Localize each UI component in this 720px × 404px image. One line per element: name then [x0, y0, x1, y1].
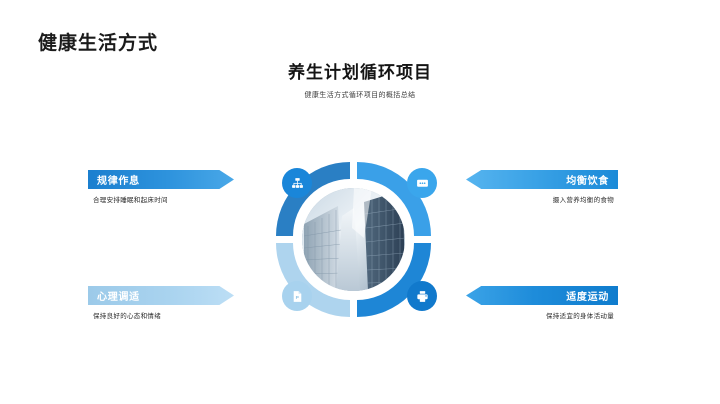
main-heading: 养生计划循环项目 [0, 62, 720, 84]
callout-banner[interactable]: 均衡饮食 [466, 170, 618, 189]
callout-label: 适度运动 [566, 288, 609, 303]
callout-label: 心理调适 [97, 288, 140, 303]
badge-bottom-right[interactable] [407, 281, 437, 311]
sub-heading: 健康生活方式循环项目的概括总结 [0, 90, 720, 100]
callout-mental-adjustment[interactable]: 心理调适 保持良好的心态和情绪 [88, 286, 248, 320]
slide-canvas: 健康生活方式 养生计划循环项目 健康生活方式循环项目的概括总结 [0, 0, 720, 404]
callout-description: 保持适宜的身体活动量 [466, 310, 626, 320]
badge-top-right[interactable] [407, 168, 437, 198]
callout-banner[interactable]: 规律作息 [88, 170, 234, 189]
callout-balanced-diet[interactable]: 均衡饮食 摄入营养均衡的食物 [466, 170, 626, 204]
callout-label: 均衡饮食 [566, 172, 609, 187]
callout-banner[interactable]: 心理调适 [88, 286, 234, 305]
diagram-ring: P [276, 162, 431, 317]
callout-description: 保持良好的心态和情绪 [88, 310, 248, 320]
callout-description: 摄入营养均衡的食物 [466, 194, 626, 204]
callout-banner[interactable]: 适度运动 [466, 286, 618, 305]
badge-bottom-left[interactable]: P [282, 281, 312, 311]
heading-group: 养生计划循环项目 健康生活方式循环项目的概括总结 [0, 62, 720, 100]
callout-moderate-exercise[interactable]: 适度运动 保持适宜的身体活动量 [466, 286, 626, 320]
slide-title: 健康生活方式 [38, 28, 158, 55]
circular-diagram: P [270, 162, 450, 317]
document-icon: P [291, 290, 304, 303]
message-card-icon [416, 177, 429, 190]
badge-top-left[interactable] [282, 168, 312, 198]
callout-label: 规律作息 [97, 172, 140, 187]
sitemap-icon [291, 177, 304, 190]
center-skyscraper-photo [302, 188, 405, 291]
callout-regular-rest[interactable]: 规律作息 合理安排睡眠和起床时间 [88, 170, 248, 204]
printer-icon [416, 290, 429, 303]
callout-description: 合理安排睡眠和起床时间 [88, 194, 248, 204]
